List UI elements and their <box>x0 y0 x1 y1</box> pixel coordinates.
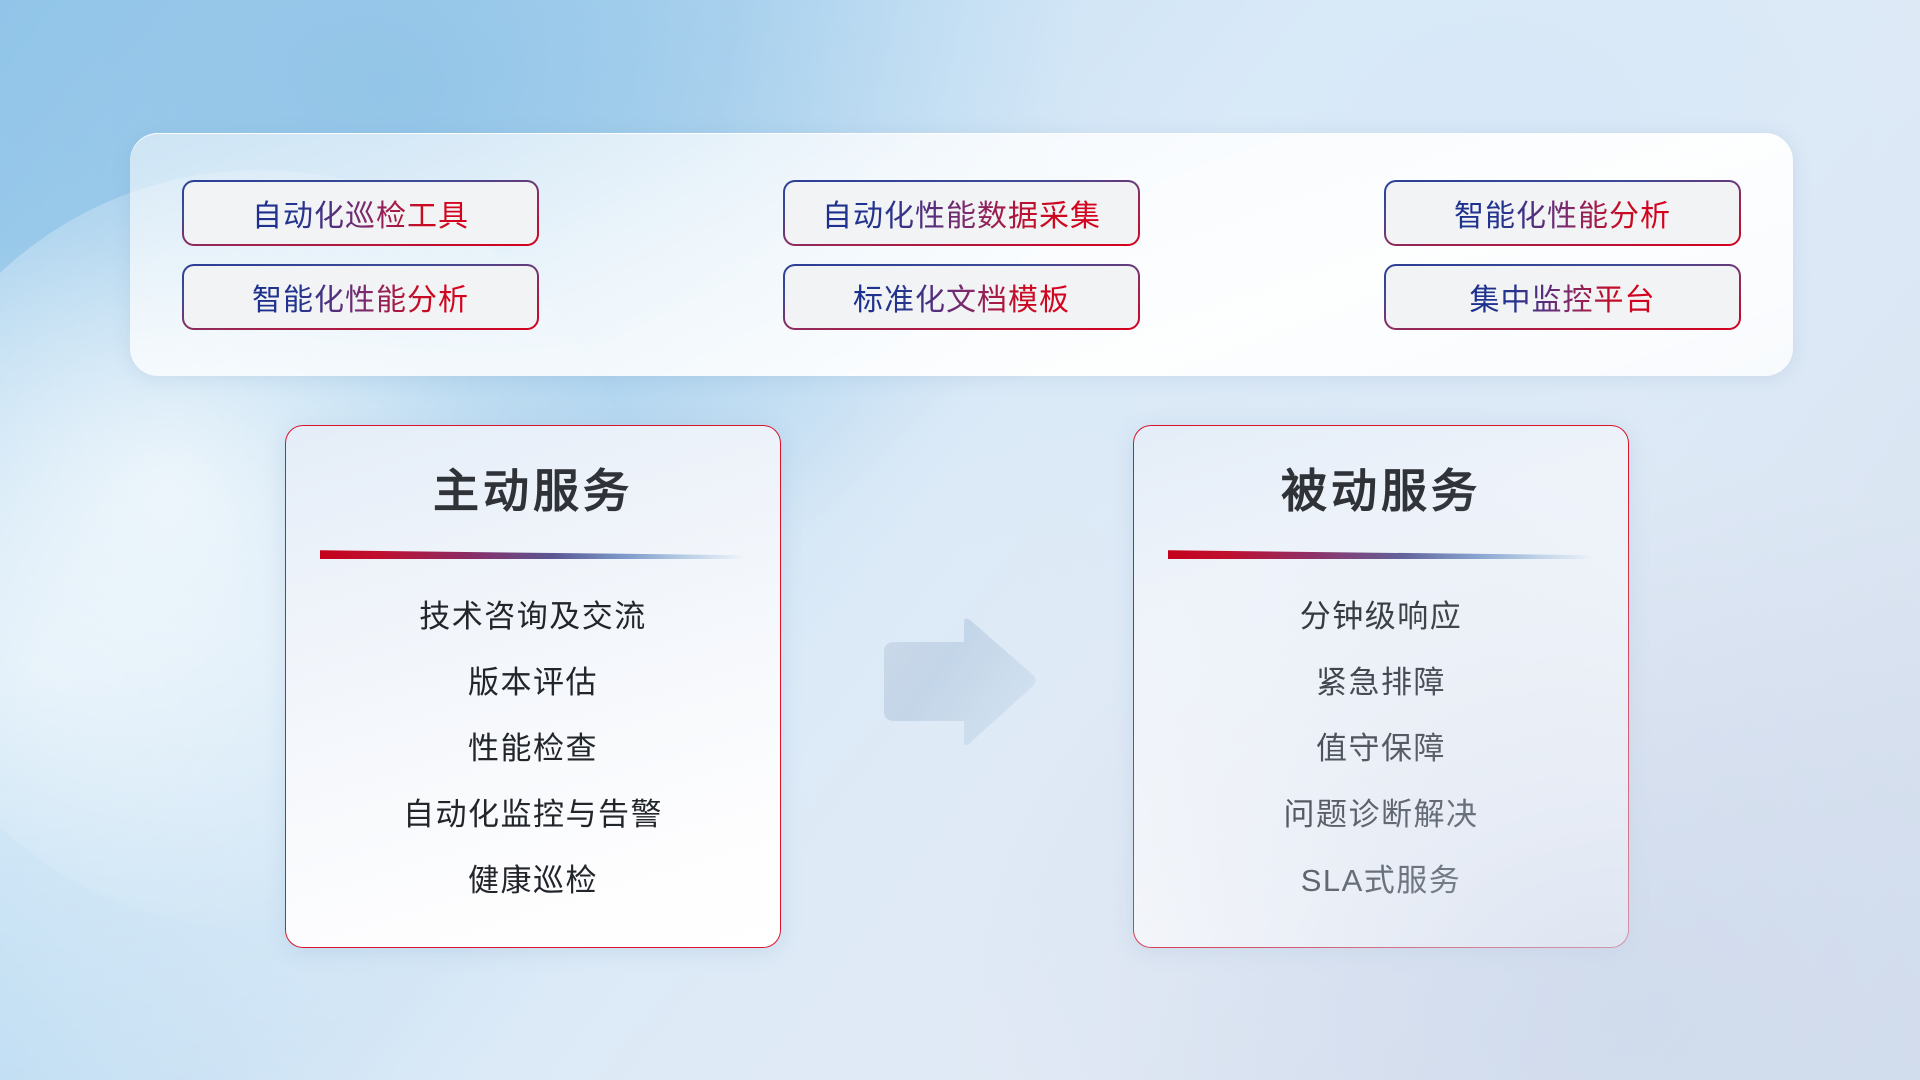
capability-tag-intelligent-performance-analysis[interactable]: 智能化性能分析 <box>1384 180 1741 246</box>
list-item: 自动化监控与告警 <box>403 789 663 834</box>
capability-row-2: 智能化性能分析 标准化文档模板 集中监控平台 <box>182 264 1741 330</box>
capability-tag-standardized-document-template[interactable]: 标准化文档模板 <box>783 264 1140 330</box>
card-divider <box>1168 548 1594 562</box>
capability-tag-centralized-monitoring-platform[interactable]: 集中监控平台 <box>1384 264 1741 330</box>
card-divider <box>320 548 746 562</box>
service-item-list: 技术咨询及交流 版本评估 性能检查 自动化监控与告警 健康巡检 <box>316 570 750 925</box>
service-card-proactive: 主动服务 技术咨询及交流 版本评估 性能检查 自动化监控与告警 健康巡检 <box>285 425 781 948</box>
list-item: 性能检查 <box>468 723 598 768</box>
list-item: 紧急排障 <box>1316 657 1446 702</box>
list-item: 分钟级响应 <box>1300 591 1463 636</box>
slide-canvas: 自动化巡检工具 自动化性能数据采集 智能化性能分析 智能化性能分析 标准化文档模… <box>0 0 1920 1080</box>
list-item: 技术咨询及交流 <box>419 591 647 636</box>
list-item: 值守保障 <box>1316 723 1446 768</box>
capability-tag-label: 智能化性能分析 <box>252 275 469 319</box>
service-card-reactive: 被动服务 分钟级响应 紧急排障 值守保障 问题诊断解决 SLA式服务 <box>1133 425 1629 948</box>
card-title: 被动服务 <box>1164 464 1598 518</box>
list-item: 问题诊断解决 <box>1284 789 1479 834</box>
divider-gradient-bar <box>1168 550 1594 559</box>
service-item-list: 分钟级响应 紧急排障 值守保障 问题诊断解决 SLA式服务 <box>1164 570 1598 925</box>
capability-tag-label: 自动化性能数据采集 <box>822 191 1101 235</box>
divider-gradient-bar <box>320 550 746 559</box>
capability-tag-label: 集中监控平台 <box>1470 275 1656 319</box>
list-item: SLA式服务 <box>1301 855 1462 900</box>
card-title: 主动服务 <box>316 464 750 518</box>
capability-tag-label: 自动化巡检工具 <box>252 191 469 235</box>
arrow-right-icon <box>878 616 1038 748</box>
capability-row-1: 自动化巡检工具 自动化性能数据采集 智能化性能分析 <box>182 180 1741 246</box>
list-item: 版本评估 <box>468 657 598 702</box>
capability-tag-automated-performance-data-collection[interactable]: 自动化性能数据采集 <box>783 180 1140 246</box>
capability-tag-intelligent-performance-analysis-2[interactable]: 智能化性能分析 <box>182 264 539 330</box>
list-item: 健康巡检 <box>468 855 598 900</box>
capability-tag-label: 智能化性能分析 <box>1454 191 1671 235</box>
capability-tag-automation-inspection-tool[interactable]: 自动化巡检工具 <box>182 180 539 246</box>
capability-tag-label: 标准化文档模板 <box>853 275 1070 319</box>
capability-panel: 自动化巡检工具 自动化性能数据采集 智能化性能分析 智能化性能分析 标准化文档模… <box>130 133 1793 376</box>
